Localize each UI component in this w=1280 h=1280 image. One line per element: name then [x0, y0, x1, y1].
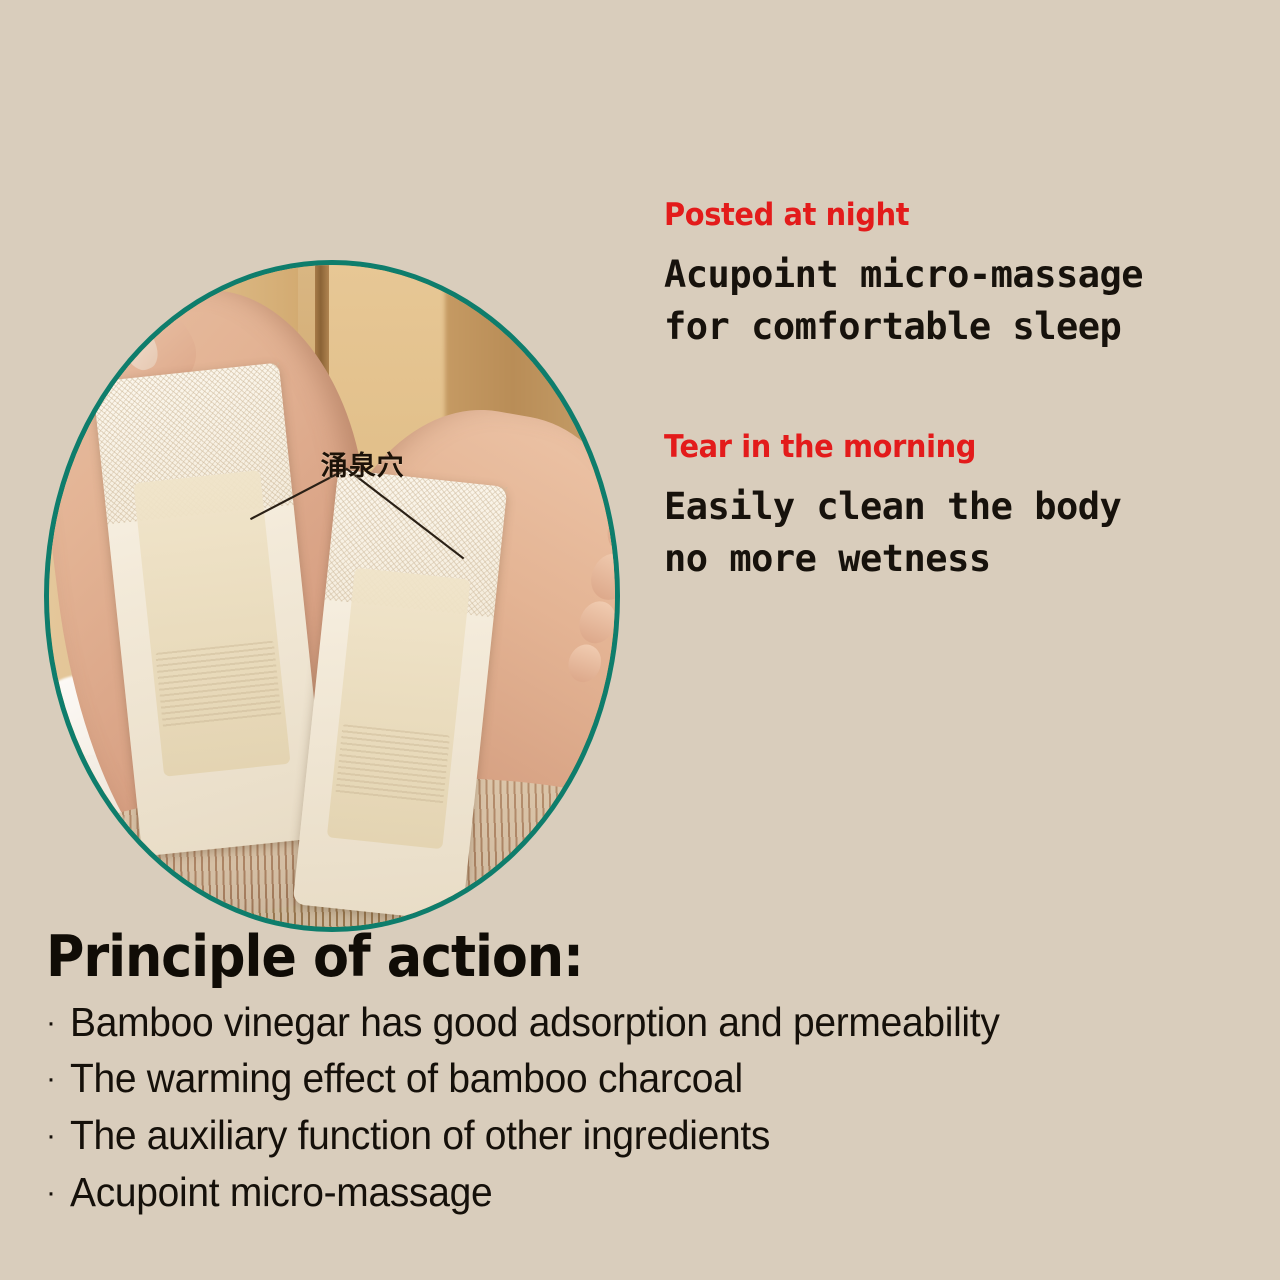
- headline-morning: Easily clean the body no more wetness: [664, 481, 1264, 586]
- feet-photo-circle: 涌泉穴: [44, 260, 620, 932]
- bullet-dot-icon: ·: [46, 1178, 70, 1208]
- copy-block-morning: Tear in the morning Easily clean the bod…: [664, 428, 1264, 586]
- marketing-copy: Posted at night Acupoint micro-massage f…: [664, 196, 1264, 586]
- principle-bullet-list: · Bamboo vinegar has good adsorption and…: [46, 994, 1246, 1220]
- bullet-dot-icon: ·: [46, 1064, 70, 1094]
- kicker-posted-at-night: Posted at night: [664, 196, 1222, 235]
- copy-block-night: Posted at night Acupoint micro-massage f…: [664, 196, 1264, 354]
- patch-core-left: [133, 470, 290, 777]
- list-item: · Bamboo vinegar has good adsorption and…: [46, 994, 1246, 1051]
- headline-night-line-1: Acupoint micro-massage: [664, 249, 1264, 302]
- headline-morning-line-2: no more wetness: [664, 533, 1264, 586]
- list-item: · Acupoint micro-massage: [46, 1164, 1246, 1221]
- principle-of-action-section: Principle of action: · Bamboo vinegar ha…: [46, 928, 1246, 1220]
- principle-of-action-title: Principle of action:: [46, 928, 1150, 988]
- feet-photo-image: 涌泉穴: [49, 265, 615, 927]
- headline-night-line-2: for comfortable sleep: [664, 301, 1264, 354]
- patch-print-right: [335, 724, 450, 805]
- acupoint-label: 涌泉穴: [321, 444, 405, 483]
- patch-core-right: [327, 568, 470, 849]
- kicker-tear-in-the-morning: Tear in the morning: [664, 428, 1222, 467]
- bullet-dot-icon: ·: [46, 1008, 70, 1038]
- list-item: · The warming effect of bamboo charcoal: [46, 1050, 1246, 1107]
- headline-morning-line-1: Easily clean the body: [664, 481, 1264, 534]
- headline-night: Acupoint micro-massage for comfortable s…: [664, 249, 1264, 354]
- list-item-label: The auxiliary function of other ingredie…: [70, 1107, 770, 1164]
- list-item-label: Bamboo vinegar has good adsorption and p…: [70, 994, 1000, 1051]
- list-item: · The auxiliary function of other ingred…: [46, 1107, 1246, 1164]
- bullet-dot-icon: ·: [46, 1121, 70, 1151]
- patch-print-left: [155, 641, 282, 729]
- product-infographic-page: 涌泉穴 Posted at night Acupoint micro-massa…: [0, 0, 1280, 1280]
- list-item-label: The warming effect of bamboo charcoal: [70, 1050, 743, 1107]
- list-item-label: Acupoint micro-massage: [70, 1164, 492, 1221]
- right-foot-toes: [521, 485, 615, 736]
